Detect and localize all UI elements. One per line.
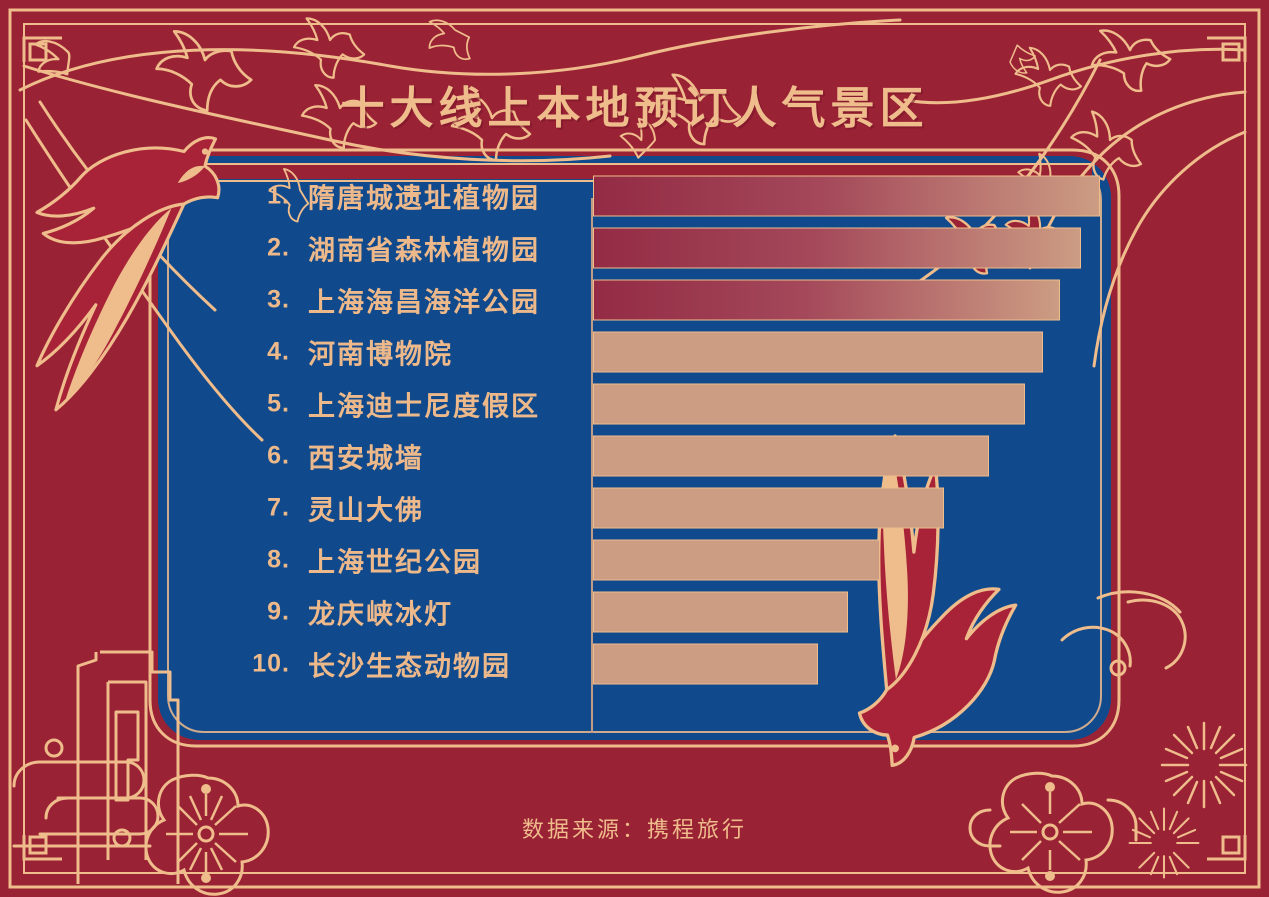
rank-number: 8. <box>230 546 290 575</box>
rank-number: 9. <box>230 598 290 627</box>
chart-bar <box>593 332 1043 373</box>
chart-bar <box>593 228 1081 269</box>
ranking-bar-chart: 1. 隋唐城遗址植物园 2. 湖南省森林植物园 3. 上海海昌海洋公园 <box>160 170 1120 750</box>
bar-slot <box>593 384 1025 425</box>
chart-row: 3. 上海海昌海洋公园 <box>160 274 1120 326</box>
rank-number: 1. <box>230 182 290 211</box>
chart-bar <box>593 592 848 633</box>
attraction-name: 上海世纪公园 <box>308 541 482 580</box>
rank-number: 6. <box>230 442 290 471</box>
attraction-name: 灵山大佛 <box>308 489 424 528</box>
attraction-name: 上海海昌海洋公园 <box>308 281 540 320</box>
chart-bar <box>593 488 944 529</box>
rank-number: 5. <box>230 390 290 419</box>
chart-row: 10. 长沙生态动物园 <box>160 638 1120 690</box>
attraction-name: 龙庆峡冰灯 <box>308 593 453 632</box>
chart-bar <box>593 436 989 477</box>
bar-slot <box>593 332 1043 373</box>
attraction-name: 长沙生态动物园 <box>308 645 511 684</box>
bar-slot <box>593 228 1081 269</box>
bar-slot <box>593 644 818 685</box>
chart-row: 2. 湖南省森林植物园 <box>160 222 1120 274</box>
rank-number: 4. <box>230 338 290 367</box>
chart-bar <box>593 540 880 581</box>
chart-row: 5. 上海迪士尼度假区 <box>160 378 1120 430</box>
chart-row: 8. 上海世纪公园 <box>160 534 1120 586</box>
chart-bar <box>593 176 1100 217</box>
chart-bar <box>593 384 1025 425</box>
bar-slot <box>593 488 944 529</box>
rank-number: 3. <box>230 286 290 315</box>
attraction-name: 湖南省森林植物园 <box>308 229 540 268</box>
chart-bar <box>593 280 1060 321</box>
bar-slot <box>593 176 1100 217</box>
chart-row: 1. 隋唐城遗址植物园 <box>160 170 1120 222</box>
rank-number: 2. <box>230 234 290 263</box>
rank-number: 10. <box>230 650 290 679</box>
bar-slot <box>593 540 880 581</box>
chart-row: 4. 河南博物院 <box>160 326 1120 378</box>
bar-slot <box>593 436 989 477</box>
chart-bar <box>593 644 818 685</box>
bar-slot <box>593 592 848 633</box>
attraction-name: 上海迪士尼度假区 <box>308 385 540 424</box>
chart-row: 7. 灵山大佛 <box>160 482 1120 534</box>
attraction-name: 隋唐城遗址植物园 <box>308 177 540 216</box>
rank-number: 7. <box>230 494 290 523</box>
bar-slot <box>593 280 1060 321</box>
poster-root: 十大线上本地预订人气景区 1. 隋唐城遗址植物园 2. 湖南省森林植物园 3. <box>0 0 1269 897</box>
chart-row: 6. 西安城墙 <box>160 430 1120 482</box>
attraction-name: 河南博物院 <box>308 333 453 372</box>
chart-row: 9. 龙庆峡冰灯 <box>160 586 1120 638</box>
attraction-name: 西安城墙 <box>308 437 424 476</box>
data-source-note: 数据来源：携程旅行 <box>0 812 1269 844</box>
page-title: 十大线上本地预订人气景区 <box>0 72 1269 136</box>
